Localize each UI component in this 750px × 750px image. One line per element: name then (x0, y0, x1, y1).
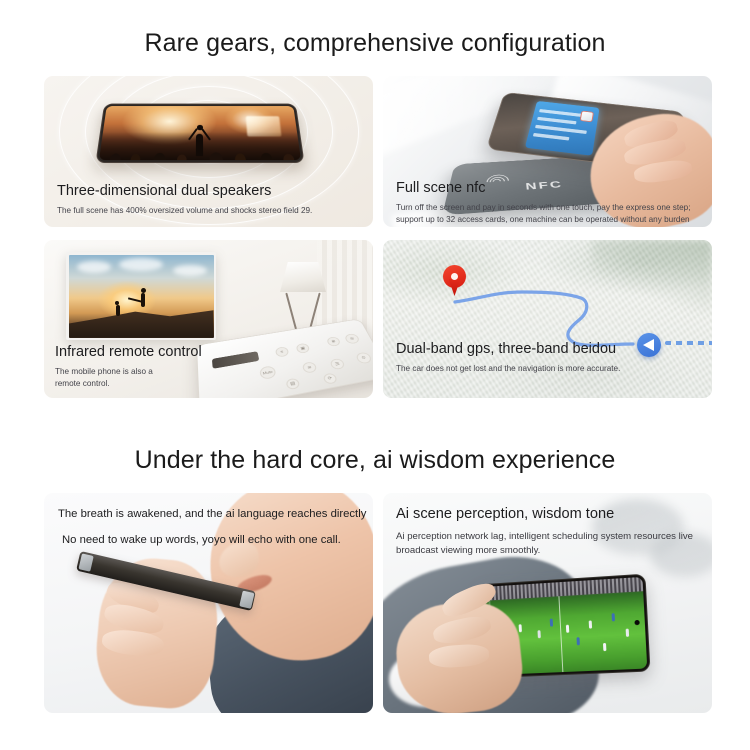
nfc-text-block: Full scene nfc Turn off the screen and p… (396, 179, 696, 225)
tv-screen-image (69, 255, 214, 338)
gps-text-block: Dual-band gps, three-band beidou The car… (396, 340, 620, 375)
feature-card-ai-scene-perception[interactable]: Ai scene perception, wisdom tone Ai perc… (383, 493, 712, 713)
card-title: Three-dimensional dual speakers (57, 182, 312, 200)
card-description: No need to wake up words, yoyo will echo… (58, 534, 366, 546)
feature-card-dual-speakers[interactable]: Three-dimensional dual speakers The full… (44, 76, 373, 227)
card-description: The mobile phone is also a remote contro… (55, 366, 175, 389)
card-description: The full scene has 400% oversized volume… (57, 205, 312, 217)
map-pin-icon (443, 265, 466, 296)
product-feature-page: Rare gears, comprehensive configuration (0, 0, 750, 750)
card-description: The car does not get lost and the naviga… (396, 363, 620, 375)
voice-text-block: The breath is awakened, and the ai langu… (58, 506, 366, 546)
card-title: Infrared remote control (55, 343, 202, 361)
feature-card-infrared-remote[interactable]: ≡ ▣ ✻ ◎ Mute ≋ ☰ ⊙ ▤ ⟳ Infrared remote c… (44, 240, 373, 398)
phone-landscape-illustration (95, 104, 304, 163)
route-dashes (665, 341, 712, 345)
card-description: Turn off the screen and pay in seconds w… (396, 202, 696, 225)
card-description: Ai perception network lag, intelligent s… (396, 530, 712, 559)
feature-card-dual-band-gps[interactable]: Dual-band gps, three-band beidou The car… (383, 240, 712, 398)
infrared-remote-text-block: Infrared remote control The mobile phone… (55, 343, 202, 389)
phone-remote-illustration: ≡ ▣ ✻ ◎ Mute ≋ ☰ ⊙ ▤ ⟳ (196, 318, 373, 398)
feature-card-full-scene-nfc[interactable]: NFC Full scene nfc Turn off the screen a… (383, 76, 712, 227)
navigation-arrow-icon (637, 333, 661, 357)
section-heading-ai-wisdom: Under the hard core, ai wisdom experienc… (0, 446, 750, 475)
ai-scene-text-block: Ai scene perception, wisdom tone Ai perc… (396, 506, 712, 559)
card-title: Ai scene perception, wisdom tone (396, 506, 712, 522)
tv-illustration (66, 252, 216, 340)
card-title: The breath is awakened, and the ai langu… (58, 506, 366, 522)
dual-speakers-text-block: Three-dimensional dual speakers The full… (57, 182, 312, 217)
concert-scene-image (99, 106, 301, 160)
feature-card-ai-language[interactable]: The breath is awakened, and the ai langu… (44, 493, 373, 713)
nfc-payment-screen (525, 101, 600, 156)
card-title: Full scene nfc (396, 179, 696, 197)
lamp-shade-illustration (280, 262, 326, 292)
card-title: Dual-band gps, three-band beidou (396, 340, 620, 358)
section-heading-rare-gears: Rare gears, comprehensive configuration (0, 29, 750, 58)
